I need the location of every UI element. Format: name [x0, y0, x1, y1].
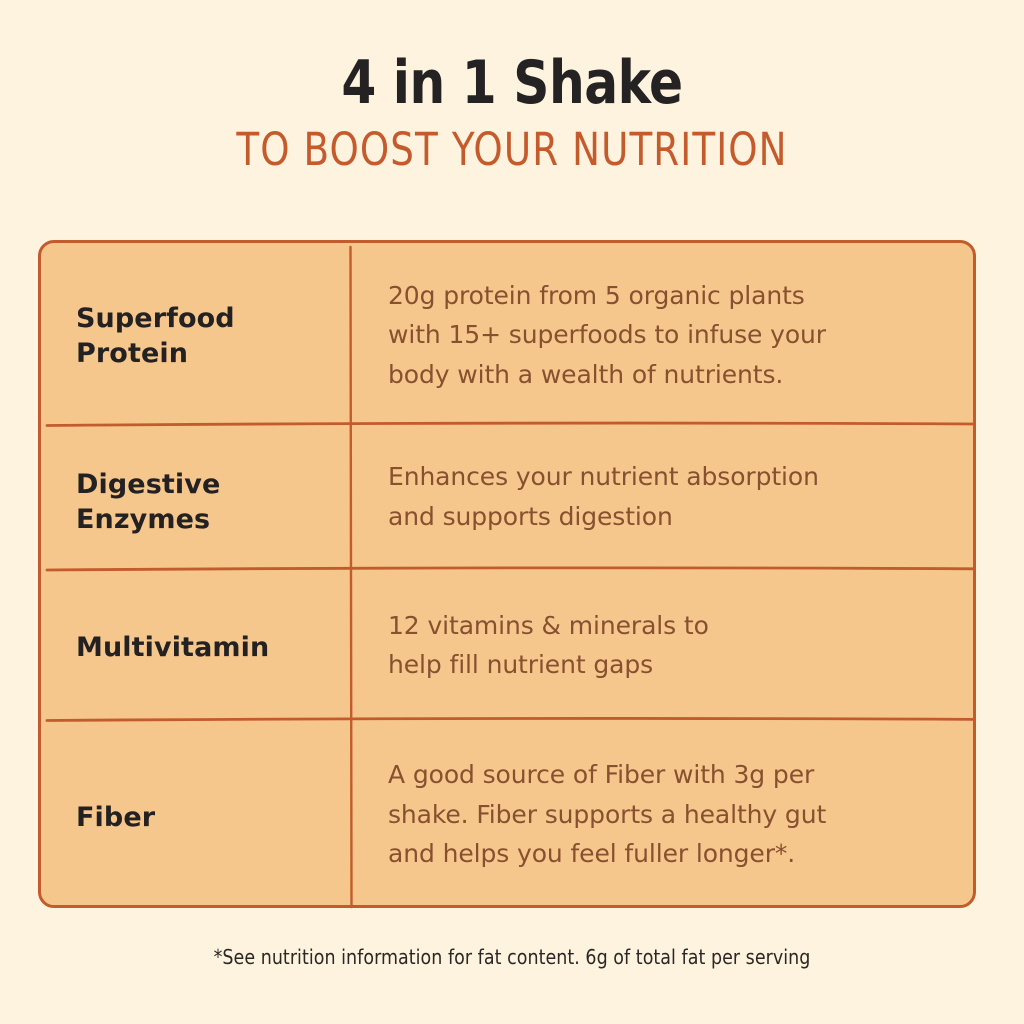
benefits-table: Superfood Protein 20g protein from 5 org… — [38, 240, 976, 908]
table-row: Fiber A good source of Fiber with 3g per… — [41, 718, 973, 905]
row-description: A good source of Fiber with 3g per shake… — [388, 755, 826, 874]
table-cell-label: Multivitamin — [41, 568, 351, 718]
row-label: Multivitamin — [76, 631, 269, 666]
table-cell-description: Enhances your nutrient absorption and su… — [351, 423, 973, 568]
row-label: Superfood Protein — [76, 302, 235, 371]
row-description: 20g protein from 5 organic plants with 1… — [388, 276, 826, 395]
page-subtitle: TO BOOST YOUR NUTRITION — [41, 115, 983, 172]
row-label: Digestive Enzymes — [76, 468, 220, 537]
table-body: Superfood Protein 20g protein from 5 org… — [41, 243, 973, 905]
table-cell-label: Superfood Protein — [41, 243, 351, 423]
table-row: Digestive Enzymes Enhances your nutrient… — [41, 423, 973, 568]
table-cell-description: 12 vitamins & minerals to help fill nutr… — [351, 568, 973, 718]
row-description: Enhances your nutrient absorption and su… — [388, 457, 819, 536]
page-title: 4 in 1 Shake — [36, 0, 988, 115]
table-row: Superfood Protein 20g protein from 5 org… — [41, 243, 973, 423]
table-cell-description: 20g protein from 5 organic plants with 1… — [351, 243, 973, 423]
table-cell-label: Digestive Enzymes — [41, 423, 351, 568]
table-cell-label: Fiber — [41, 718, 351, 905]
header: 4 in 1 Shake TO BOOST YOUR NUTRITION — [0, 0, 1024, 172]
row-description: 12 vitamins & minerals to help fill nutr… — [388, 606, 709, 685]
row-label: Fiber — [76, 801, 155, 836]
table-row: Multivitamin 12 vitamins & minerals to h… — [41, 568, 973, 718]
table-cell-description: A good source of Fiber with 3g per shake… — [351, 718, 973, 905]
footnote: *See nutrition information for fat conte… — [15, 945, 1008, 969]
